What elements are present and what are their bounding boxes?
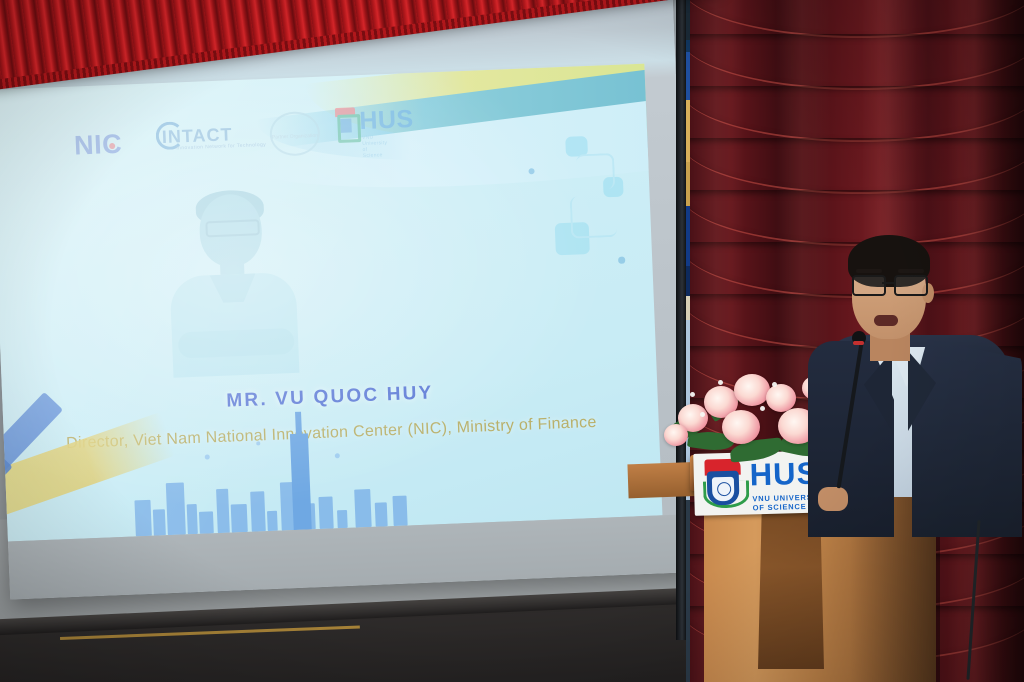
circuit-pattern-graphic <box>517 124 645 319</box>
portrait-glasses-icon <box>205 219 260 237</box>
speaker-person <box>812 235 1024 535</box>
speaker-jacket-right <box>912 339 1022 537</box>
speaker-mouth <box>874 315 898 326</box>
speaker-hand <box>818 487 848 511</box>
slide-portrait-watermark <box>154 187 311 378</box>
presentation-photo-scene: NIC INTACT Innovation Network for Techno… <box>0 0 1024 682</box>
speaker-brow-left <box>856 269 882 273</box>
speaker-brow-right <box>898 269 924 273</box>
microphone-red-band <box>853 341 864 345</box>
slide-logos-row: NIC INTACT Innovation Network for Techno… <box>63 98 445 163</box>
presentation-slide: NIC INTACT Innovation Network for Techno… <box>0 64 662 542</box>
hus-logo-subtitle: VNU University of Science <box>362 134 388 159</box>
speaker-glasses-icon <box>850 275 930 292</box>
hus-logo-book-inner <box>340 118 352 132</box>
hus-logo-text: HUS <box>359 105 414 136</box>
nic-logo: NIC <box>74 128 129 161</box>
nic-logo-text: NIC <box>74 129 123 161</box>
portrait-arms <box>178 328 295 359</box>
projection-screen: NIC INTACT Innovation Network for Techno… <box>0 0 696 600</box>
